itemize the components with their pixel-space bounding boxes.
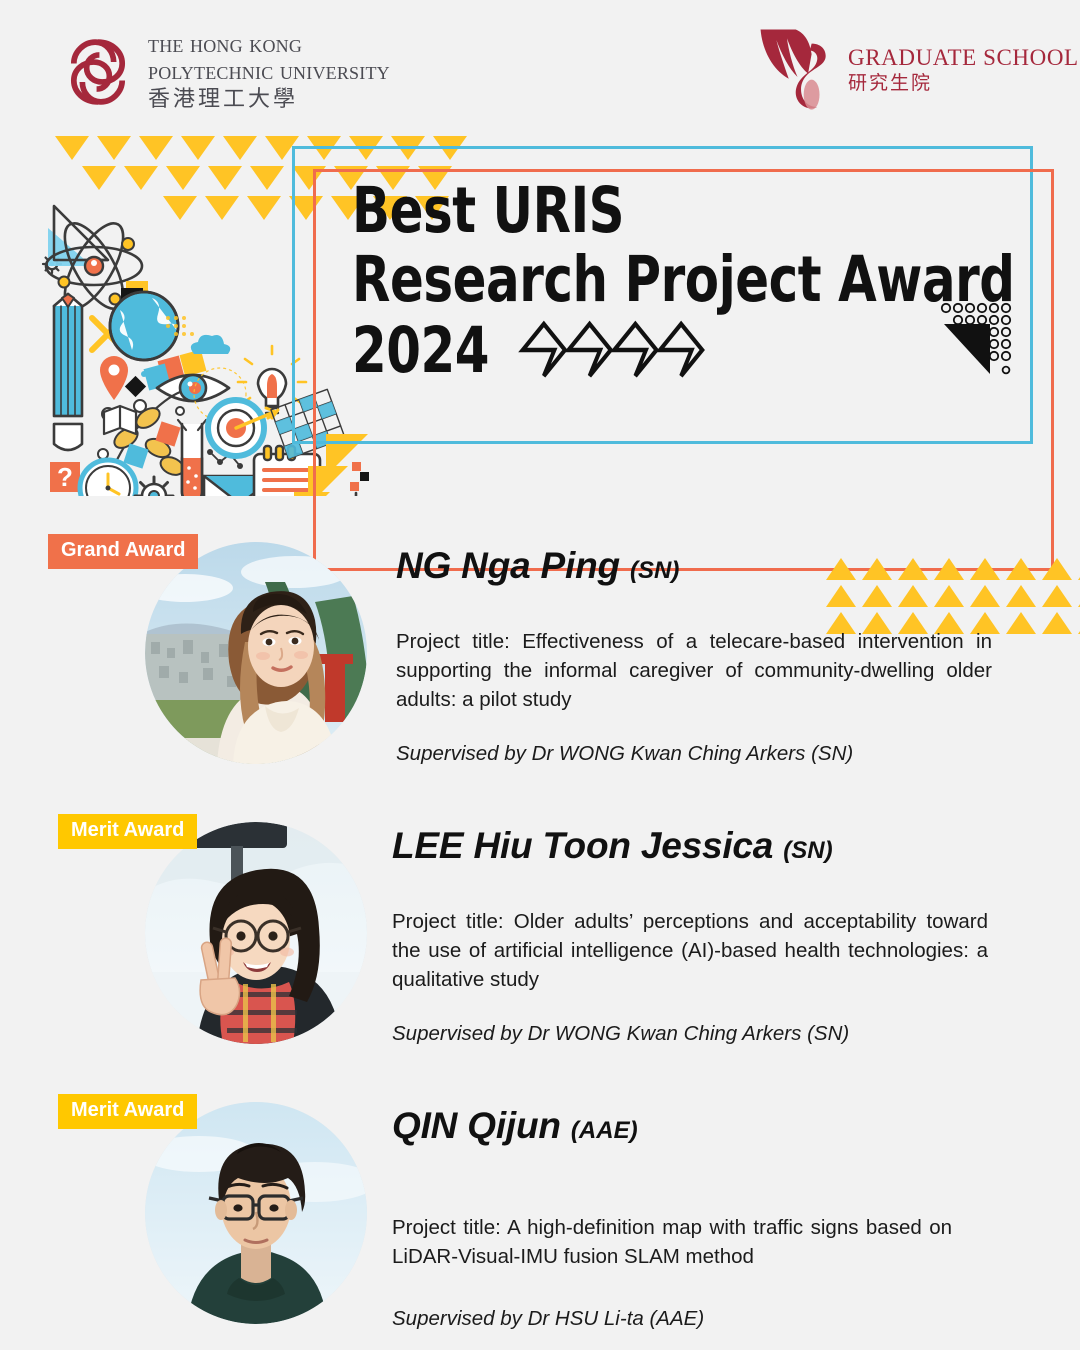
awardee-name-row: NG Nga Ping (SN) xyxy=(396,546,1036,591)
title-line-2: Research Project Award xyxy=(352,245,968,314)
awardee-name-row: QIN Qijun (AAE) xyxy=(392,1106,1032,1151)
award-badge-merit: Merit Award xyxy=(58,814,197,849)
awardee-name: LEE Hiu Toon Jessica xyxy=(392,825,773,866)
banner-title: Best URIS Research Project Award 2024 xyxy=(352,176,1052,386)
awardee-department: (SN) xyxy=(783,837,832,864)
title-banner: ? xyxy=(0,128,1080,503)
avatar xyxy=(145,822,367,1044)
awardee-name: NG Nga Ping xyxy=(396,545,620,586)
graduate-school-logo: GRADUATE SCHOOL 研究生院 xyxy=(750,24,1079,116)
graduate-school-wordmark: GRADUATE SCHOOL 研究生院 xyxy=(848,46,1079,93)
polyu-line2: polytechnic university xyxy=(148,59,390,84)
supervisor: Supervised by Dr WONG Kwan Ching Arkers … xyxy=(396,740,1036,768)
award-badge-grand: Grand Award xyxy=(48,534,198,569)
test-tube-icon xyxy=(178,420,206,496)
portrait-photo-lee-hiu-toon-jessica xyxy=(145,822,367,1044)
title-line-3: 2024 xyxy=(352,316,489,385)
crane-wing-emblem-icon xyxy=(750,24,838,116)
polyu-logo: the hong kong polytechnic university 香港理… xyxy=(62,32,390,111)
portrait-photo-ng-nga-ping xyxy=(145,542,367,764)
portrait-photo-qin-qijun xyxy=(145,1102,367,1324)
polyu-line1: the hong kong xyxy=(148,32,390,57)
awardee-name: QIN Qijun xyxy=(392,1105,561,1146)
avatar xyxy=(145,542,367,764)
pencil-icon xyxy=(54,294,82,450)
supervisor: Supervised by Dr WONG Kwan Ching Arkers … xyxy=(392,1020,1032,1048)
award-info: LEE Hiu Toon Jessica (SN) Project title:… xyxy=(392,826,1032,1048)
polyu-chinese: 香港理工大學 xyxy=(148,89,390,111)
graduate-school-english: GRADUATE SCHOOL xyxy=(848,46,1079,70)
map-pin-icon xyxy=(100,356,128,400)
polyu-wordmark: the hong kong polytechnic university 香港理… xyxy=(148,32,390,111)
awardee-department: (SN) xyxy=(630,557,679,584)
title-line-3-row: 2024 xyxy=(352,314,968,386)
cloud-icon xyxy=(191,335,230,354)
svg-text:?: ? xyxy=(57,462,73,492)
chevron-decoration xyxy=(514,314,716,386)
header: the hong kong polytechnic university 香港理… xyxy=(0,0,1080,128)
gear-icon xyxy=(135,477,173,496)
award-info: QIN Qijun (AAE) Project title: A high-de… xyxy=(392,1106,1032,1333)
supervisor: Supervised by Dr HSU Li-ta (AAE) xyxy=(392,1305,1032,1333)
project-title: Project title: A high-definition map wit… xyxy=(392,1213,952,1271)
avatar xyxy=(145,1102,367,1324)
clock-icon xyxy=(80,460,136,496)
award-info: NG Nga Ping (SN) Project title: Effectiv… xyxy=(396,546,1036,768)
project-title: Project title: Effectiveness of a teleca… xyxy=(396,627,992,714)
graduate-school-chinese: 研究生院 xyxy=(848,74,1079,94)
awardee-department: (AAE) xyxy=(571,1117,638,1144)
polyu-emblem-icon xyxy=(62,35,134,109)
project-title: Project title: Older adults’ perceptions… xyxy=(392,907,988,994)
title-line-1: Best URIS xyxy=(352,176,968,245)
poster: the hong kong polytechnic university 香港理… xyxy=(0,0,1080,1350)
awardee-name-row: LEE Hiu Toon Jessica (SN) xyxy=(392,826,1032,871)
award-badge-merit: Merit Award xyxy=(58,1094,197,1129)
